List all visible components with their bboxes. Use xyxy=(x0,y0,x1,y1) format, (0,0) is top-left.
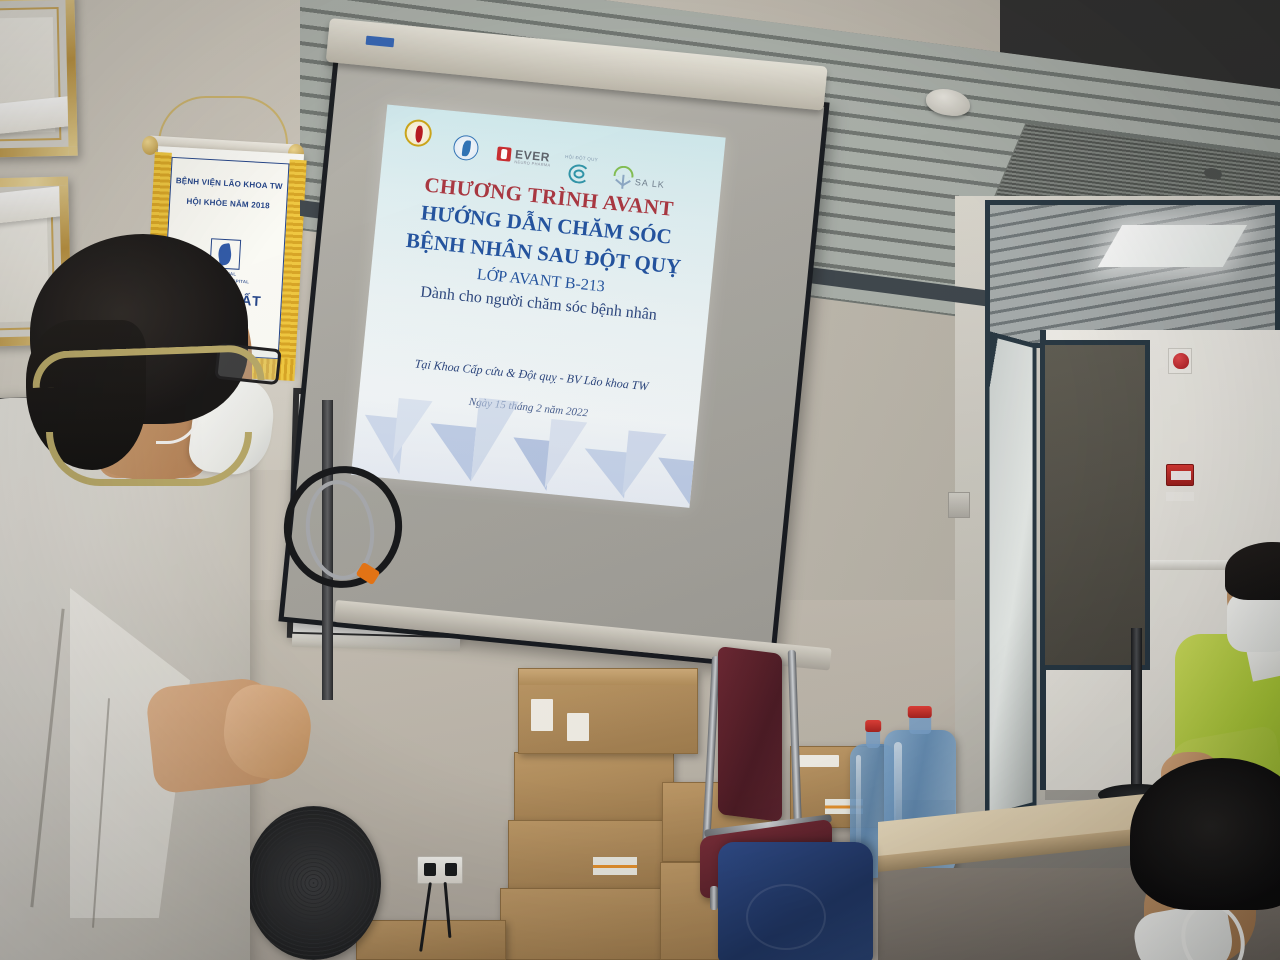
door-window-pane xyxy=(1040,340,1150,670)
stroke-association-caption: HỘI ĐỘT QUỴ xyxy=(565,154,598,162)
power-plug-right xyxy=(445,863,457,876)
ever-pharma-logo-icon: EVER NEURO PHARMA xyxy=(496,145,556,171)
photo-scene: BỆNH VIỆN LÃO KHOA TW HỘI KHỎE NĂM 2018 … xyxy=(0,0,1280,960)
box-open-flap xyxy=(519,669,697,685)
pennant-line-2: HỘI KHỎE NĂM 2018 xyxy=(170,196,286,211)
presentation-slide: EVER NEURO PHARMA HỘI ĐỘT QUỴ SA LK xyxy=(351,104,726,507)
foreground-attendee-hair xyxy=(1130,758,1280,910)
cardboard-box-4 xyxy=(500,888,676,960)
sa-lk-stem-icon xyxy=(621,175,624,189)
transom-window xyxy=(985,200,1280,348)
stethoscope-held xyxy=(284,466,414,596)
certificate-mat xyxy=(0,7,61,142)
blue-chair-backrest xyxy=(718,842,873,960)
box-label xyxy=(567,713,589,741)
call-point-label xyxy=(1166,492,1194,501)
geriatric-hospital-emblem-icon xyxy=(452,134,479,161)
wall-switch-panel[interactable] xyxy=(948,492,970,518)
chair-leg-left xyxy=(710,886,718,910)
stethoscope-neck-loop-bottom xyxy=(46,432,252,486)
blue-stacking-chair[interactable] xyxy=(718,842,888,960)
stroke-association-logo-icon: HỘI ĐỘT QUỴ xyxy=(562,154,601,187)
cardboard-box-2 xyxy=(514,752,674,826)
bottle-highlight xyxy=(856,755,861,851)
ministry-of-health-emblem-icon xyxy=(403,118,433,148)
box-shipping-label xyxy=(593,857,637,875)
corridor-ceiling-light xyxy=(1098,225,1247,267)
framed-certificate-upper xyxy=(0,0,78,158)
wall-power-outlet[interactable] xyxy=(417,856,463,884)
coat-seam xyxy=(30,609,64,908)
blue-chair-emboss xyxy=(746,884,826,950)
cardboard-box-3 xyxy=(508,820,676,892)
attendee-surgical-mask xyxy=(1227,592,1280,652)
open-glass-door[interactable] xyxy=(985,330,1037,820)
sa-lk-wordmark: SA LK xyxy=(634,177,665,190)
cardboard-box-front xyxy=(356,920,506,960)
fire-manual-call-point[interactable] xyxy=(1166,464,1194,486)
attendee-foreground xyxy=(1130,758,1280,960)
presenter-doctor xyxy=(0,250,300,960)
fire-alarm-bell-icon xyxy=(1168,348,1192,374)
smoke-detector-icon xyxy=(926,86,970,118)
chair-backrest xyxy=(718,646,782,822)
cardboard-box-top xyxy=(518,668,698,754)
ever-mark-icon xyxy=(496,146,511,161)
screen-brand-label xyxy=(366,36,395,48)
power-plug-left xyxy=(424,863,436,876)
box-label xyxy=(531,699,553,731)
pennant-line-1: BỆNH VIỆN LÃO KHOA TW xyxy=(171,176,287,191)
